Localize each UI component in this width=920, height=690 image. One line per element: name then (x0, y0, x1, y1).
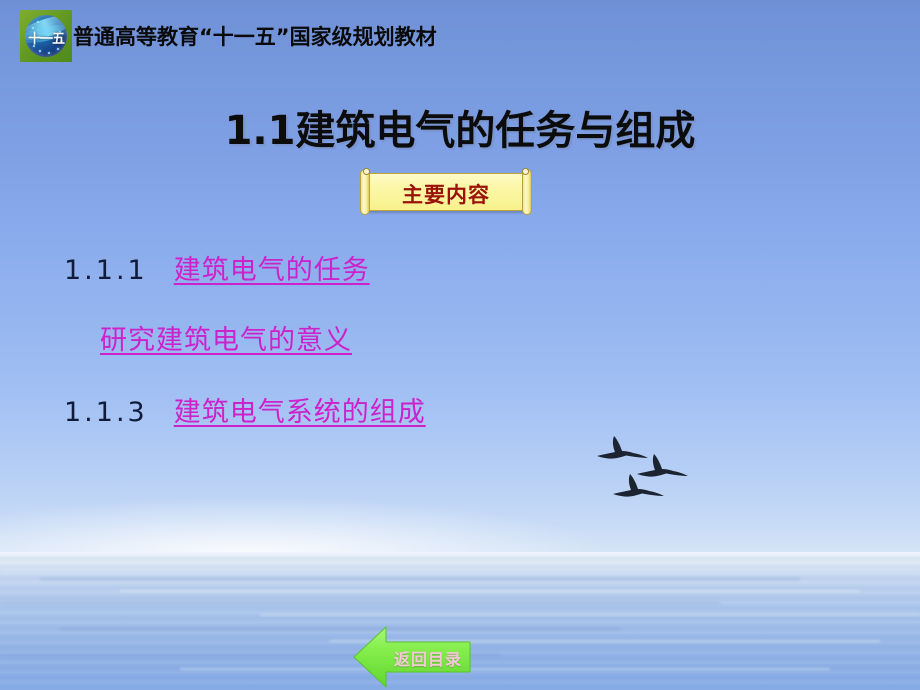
bullet-number: 1.1.3 (64, 397, 148, 428)
list-item[interactable]: 1.1.3建筑电气系统的组成 (64, 390, 426, 429)
flying-birds-silhouette (575, 420, 695, 510)
header-title: 普通高等教育“十一五”国家级规划教材 (73, 21, 437, 51)
banner-knob-right (522, 168, 529, 175)
list-item[interactable]: 1.1.1建筑电气的任务 (64, 248, 370, 287)
presentation-slide: 十一五 普通高等教育“十一五”国家级规划教材 1.1建筑电气的任务与组成 主要内… (0, 0, 920, 690)
program-globe-logo: 十一五 (20, 10, 72, 62)
banner-label: 主要内容 (354, 179, 538, 209)
bullet-link[interactable]: 建筑电气系统的组成 (174, 397, 426, 428)
left-arrow-icon (354, 627, 470, 687)
header-banner: 十一五 普通高等教育“十一五”国家级规划教材 (20, 10, 437, 62)
logo-badge-text: 十一五 (25, 28, 67, 47)
list-item[interactable]: 研究建筑电气的意义 (100, 318, 352, 357)
bullet-number: 1.1.1 (64, 255, 148, 286)
banner-knob-left (363, 168, 370, 175)
return-to-contents-button[interactable]: 返回目录 (352, 625, 474, 689)
globe-icon: 十一五 (25, 15, 67, 57)
bullet-link[interactable]: 研究建筑电气的意义 (100, 325, 352, 356)
page-title: 1.1建筑电气的任务与组成 (0, 98, 920, 156)
bullet-link[interactable]: 建筑电气的任务 (174, 255, 370, 286)
section-banner: 主要内容 (354, 169, 538, 215)
